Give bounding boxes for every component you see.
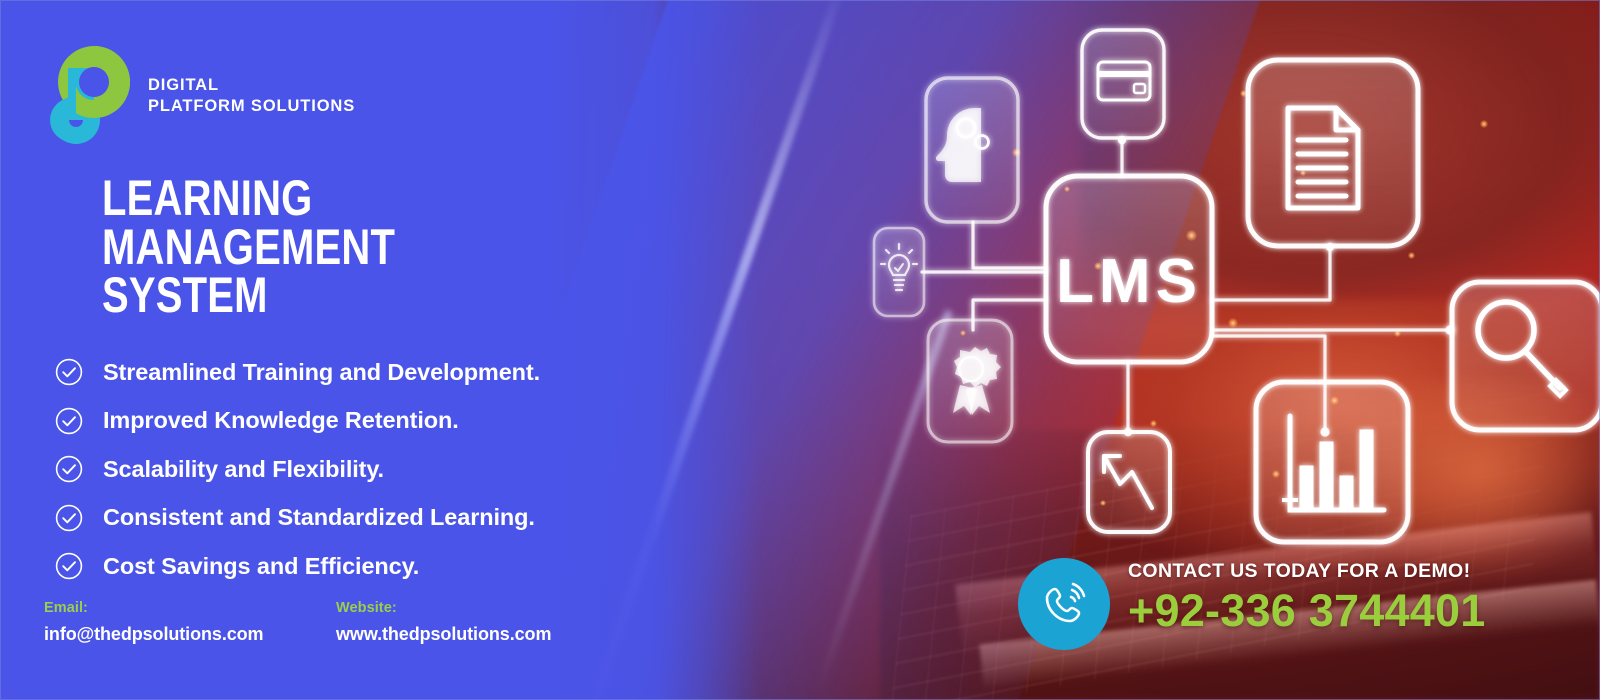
check-circle-icon (54, 551, 84, 581)
list-item: Improved Knowledge Retention. (54, 397, 734, 446)
headline-line-1: LEARNING (102, 174, 395, 223)
email-block: Email: info@thedpsolutions.com (44, 600, 336, 645)
benefit-text: Improved Knowledge Retention. (103, 407, 459, 434)
benefit-text: Streamlined Training and Development. (103, 359, 540, 386)
list-item: Consistent and Standardized Learning. (54, 494, 734, 543)
check-circle-icon (54, 454, 84, 484)
headline-line-2: MANAGEMENT (102, 223, 395, 272)
phone-call-badge[interactable] (1018, 558, 1110, 650)
list-item: Scalability and Flexibility. (54, 445, 734, 494)
email-value[interactable]: info@thedpsolutions.com (44, 624, 336, 645)
check-circle-icon (54, 406, 84, 436)
check-circle-icon (54, 503, 84, 533)
list-item: Cost Savings and Efficiency. (54, 542, 734, 591)
lms-marketing-banner: LMS DIGITAL PLATFORM SOLUTIONS LEARNING … (0, 0, 1600, 700)
brand-name: DIGITAL PLATFORM SOLUTIONS (148, 75, 355, 117)
cta-phone-number[interactable]: +92-336 3744401 (1128, 585, 1548, 637)
check-circle-icon (54, 357, 84, 387)
website-label: Website: (336, 600, 628, 616)
page-title: LEARNING MANAGEMENT SYSTEM (102, 174, 395, 320)
contact-footer: Email: info@thedpsolutions.com Website: … (44, 600, 628, 645)
phone-call-icon (1036, 576, 1092, 632)
email-label: Email: (44, 600, 336, 616)
benefit-text: Cost Savings and Efficiency. (103, 553, 419, 580)
list-item: Streamlined Training and Development. (54, 348, 734, 397)
benefit-text: Scalability and Flexibility. (103, 456, 384, 483)
brand-logo[interactable]: DIGITAL PLATFORM SOLUTIONS (50, 42, 355, 150)
headline-line-3: SYSTEM (102, 271, 395, 320)
benefits-list: Streamlined Training and Development. Im… (54, 348, 734, 591)
brand-name-line1: DIGITAL (148, 75, 355, 96)
cta-headline: CONTACT US TODAY FOR A DEMO! (1128, 560, 1548, 583)
brand-name-line2: PLATFORM SOLUTIONS (148, 96, 355, 117)
dp-monogram-logo-icon (50, 42, 142, 150)
website-block: Website: www.thedpsolutions.com (336, 600, 628, 645)
website-value[interactable]: www.thedpsolutions.com (336, 624, 628, 645)
benefit-text: Consistent and Standardized Learning. (103, 504, 535, 531)
cta-text-block: CONTACT US TODAY FOR A DEMO! +92-336 374… (1128, 560, 1548, 637)
